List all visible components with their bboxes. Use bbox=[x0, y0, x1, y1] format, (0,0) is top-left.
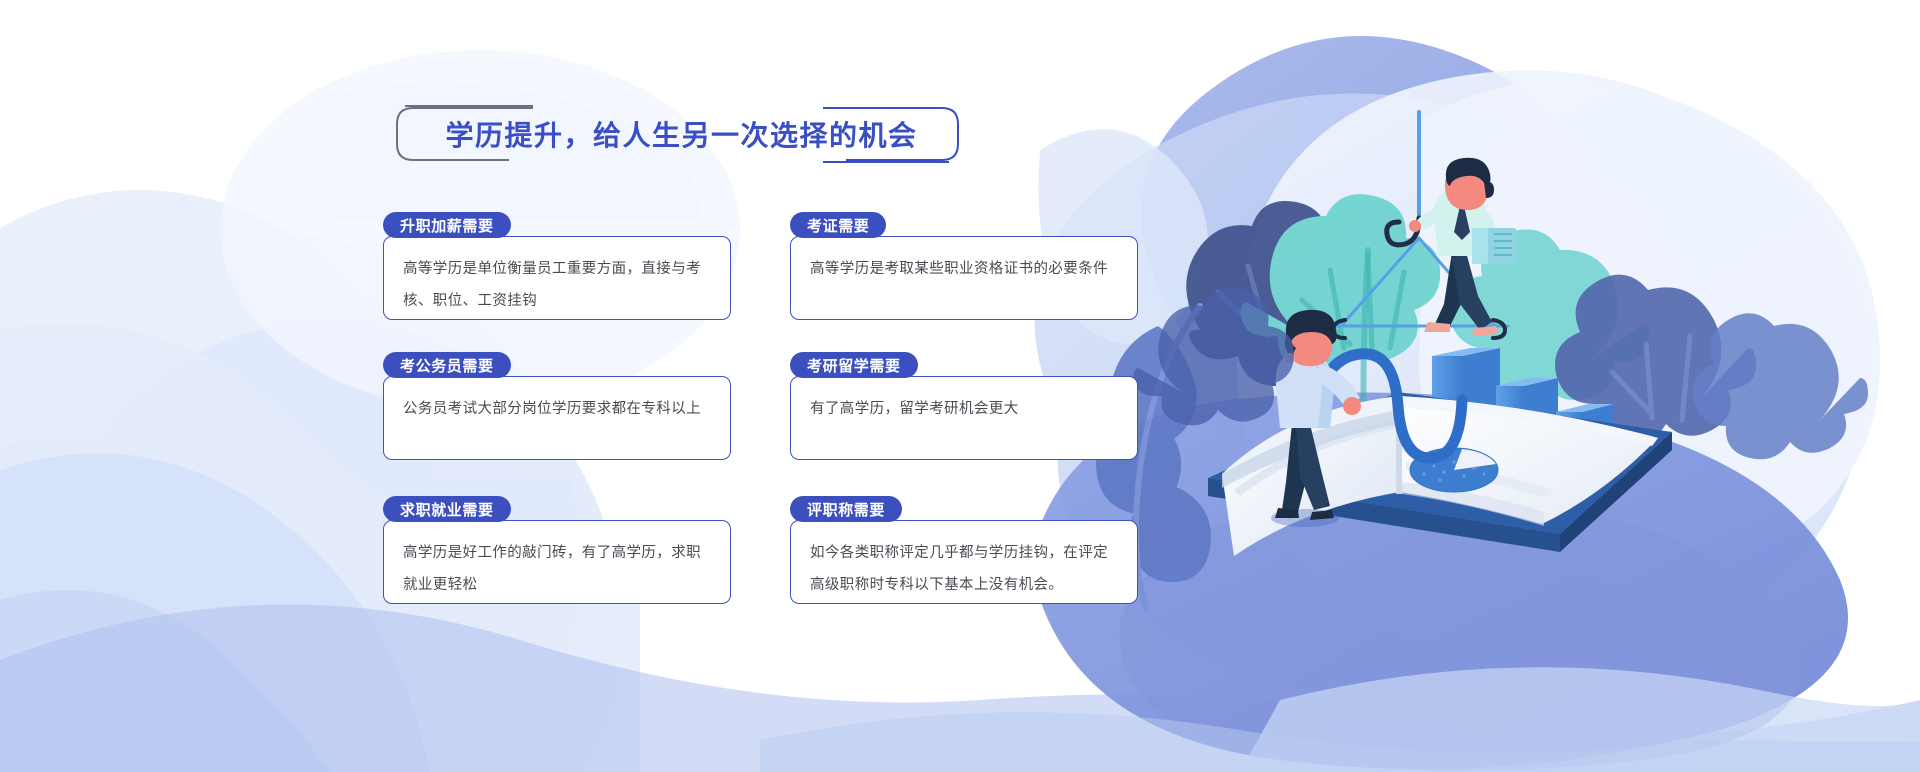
page-title-block: 学历提升，给人生另一次选择的机会 bbox=[383, 104, 972, 164]
benefit-card-body: 如今各类职称评定几乎都与学历挂钩，在评定高级职称时专科以下基本上没有机会。 bbox=[810, 537, 1122, 601]
benefit-card: 如今各类职称评定几乎都与学历挂钩，在评定高级职称时专科以下基本上没有机会。 bbox=[790, 520, 1138, 604]
benefit-card-body: 高学历是好工作的敲门砖，有了高学历，求职就业更轻松 bbox=[403, 537, 715, 601]
benefit-card: 有了高学历，留学考研机会更大 bbox=[790, 376, 1138, 460]
benefit-card-body: 高等学历是考取某些职业资格证书的必要条件 bbox=[810, 253, 1122, 285]
benefit-card-body: 公务员考试大部分岗位学历要求都在专科以上 bbox=[403, 393, 715, 425]
benefit-card: 高等学历是考取某些职业资格证书的必要条件 bbox=[790, 236, 1138, 320]
benefit-card-body: 有了高学历，留学考研机会更大 bbox=[810, 393, 1122, 425]
benefit-card-badge: 求职就业需要 bbox=[383, 496, 511, 522]
benefit-card: 高等学历是单位衡量员工重要方面，直接与考核、职位、工资挂钩 bbox=[383, 236, 731, 320]
benefit-card-badge: 考证需要 bbox=[790, 212, 886, 238]
benefit-card-badge: 考研留学需要 bbox=[790, 352, 918, 378]
benefit-card: 公务员考试大部分岗位学历要求都在专科以上 bbox=[383, 376, 731, 460]
benefit-card-badge: 评职称需要 bbox=[790, 496, 902, 522]
benefit-card-badge: 考公务员需要 bbox=[383, 352, 511, 378]
benefit-card-badge: 升职加薪需要 bbox=[383, 212, 511, 238]
benefit-card-body: 高等学历是单位衡量员工重要方面，直接与考核、职位、工资挂钩 bbox=[403, 253, 715, 317]
benefit-card: 高学历是好工作的敲门砖，有了高学历，求职就业更轻松 bbox=[383, 520, 731, 604]
page-title: 学历提升，给人生另一次选择的机会 bbox=[383, 104, 972, 164]
page-root: 学历提升，给人生另一次选择的机会 高等学历是单位衡量员工重要方面，直接与考核、职… bbox=[0, 0, 1920, 772]
